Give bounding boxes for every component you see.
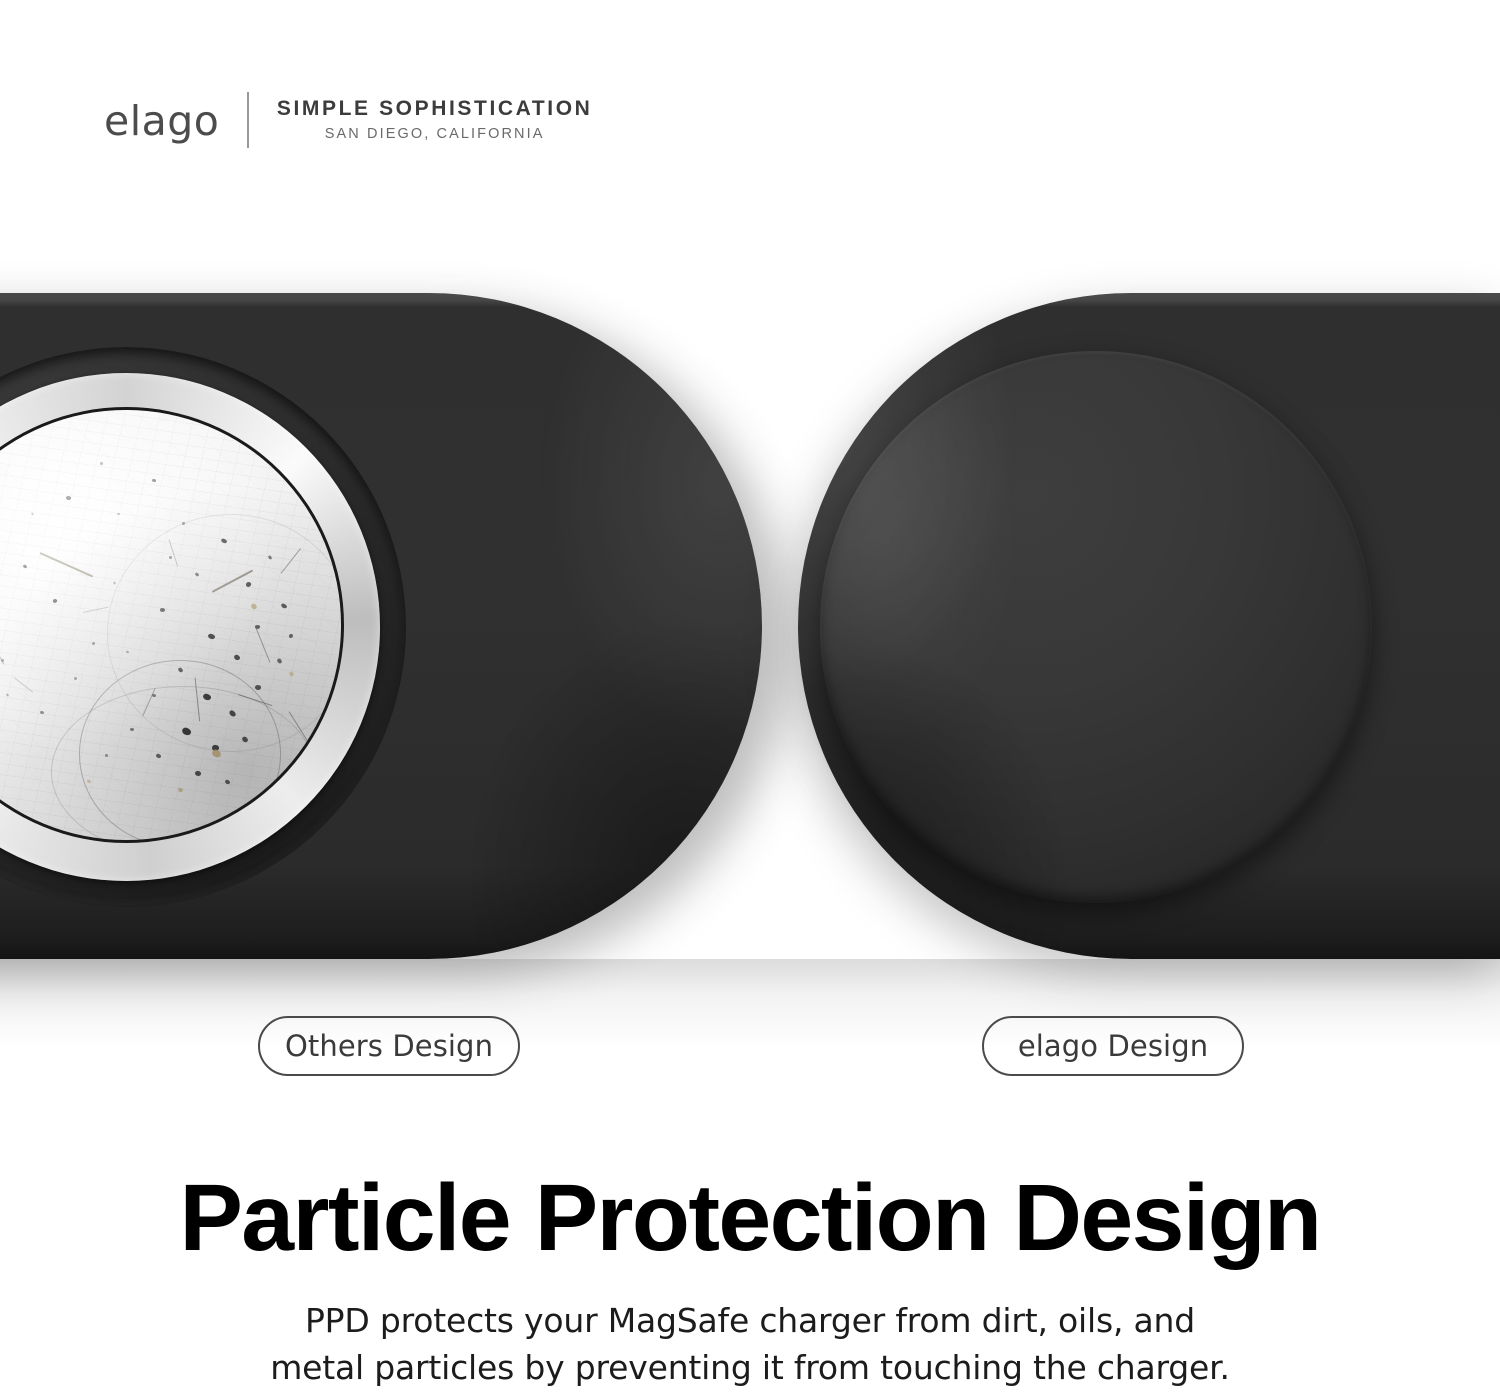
elago-logo: elago [104,101,247,142]
elago-design-product [798,293,1500,959]
dirt-particle [246,581,252,587]
protective-cover-disc [820,351,1372,903]
dirt-particle [117,513,120,516]
product-ground-shadow [0,959,1500,1049]
dirt-particle [268,555,273,560]
dirt-particle [92,642,95,645]
hair-fiber [14,677,33,692]
dirt-particle [229,709,237,718]
dirt-particle [151,478,156,482]
dirt-particle [155,753,161,759]
label-others-design: Others Design [258,1016,520,1076]
dirt-particle [126,650,130,653]
dirt-particle [194,770,202,777]
product-marketing-page: elago SIMPLE SOPHISTICATION SAN DIEGO, C… [0,0,1500,1396]
brand-tagline: SIMPLE SOPHISTICATION [277,97,593,121]
dirt-particle [224,779,230,785]
product-comparison-stage [0,293,1500,959]
charger-bezel-well [0,347,406,907]
brand-lockup: elago SIMPLE SOPHISTICATION SAN DIEGO, C… [104,88,592,152]
tan-particle [289,671,295,677]
hair-fiber [83,607,109,613]
exposed-charger-face [0,410,341,840]
dirt-particle [254,684,261,690]
disc-sheen [820,351,1372,903]
dirt-particle [160,607,166,612]
subcopy-line-1: PPD protects your MagSafe charger from d… [0,1298,1500,1345]
page-subcopy: PPD protects your MagSafe charger from d… [0,1298,1500,1392]
dirt-particle [52,598,57,603]
dirt-particle [40,710,45,714]
hair-fiber [280,548,300,574]
dirt-particle [276,658,282,664]
hair-fiber [194,677,200,721]
tan-particle [211,748,222,758]
metal-ring [0,373,380,881]
dirt-particle [31,512,35,516]
hair-fiber [238,694,273,706]
label-elago-design: elago Design [982,1016,1244,1076]
dirt-particle [177,667,183,673]
others-design-product [0,293,762,959]
tan-particle [177,788,183,793]
dirt-particle [65,495,71,500]
tan-particle [87,779,92,784]
dirt-particle [74,677,77,680]
dirt-particle [280,602,287,609]
dirt-particle [289,634,293,638]
dirt-particle [100,462,103,465]
page-headline: Particle Protection Design [0,1171,1500,1266]
dirt-particle [202,692,212,701]
dirt-particle [169,556,172,559]
dirt-particle [220,538,227,545]
dirt-particle [233,654,241,662]
dirt-particle [105,754,108,757]
ring-groove [0,407,344,843]
hair-fiber [169,539,178,566]
dirt-particle [113,581,116,585]
hair-fiber [289,711,308,740]
dirt-particle [5,693,8,697]
dirt-particle [207,632,215,639]
dirt-particle [22,564,27,569]
hair-fiber [143,688,156,716]
dirt-particle [194,572,199,577]
brand-text-block: SIMPLE SOPHISTICATION SAN DIEGO, CALIFOR… [249,97,593,144]
subcopy-line-2: metal particles by preventing it from to… [0,1345,1500,1392]
hair-fiber [40,552,94,577]
hair-fiber [212,569,253,592]
dirt-particle [182,522,185,525]
hair-fiber [254,625,270,662]
dirt-particle [241,735,249,743]
brand-location: SAN DIEGO, CALIFORNIA [325,126,545,143]
tan-particle [250,602,258,610]
dirt-particle [130,728,135,732]
dirt-particle [181,726,192,737]
